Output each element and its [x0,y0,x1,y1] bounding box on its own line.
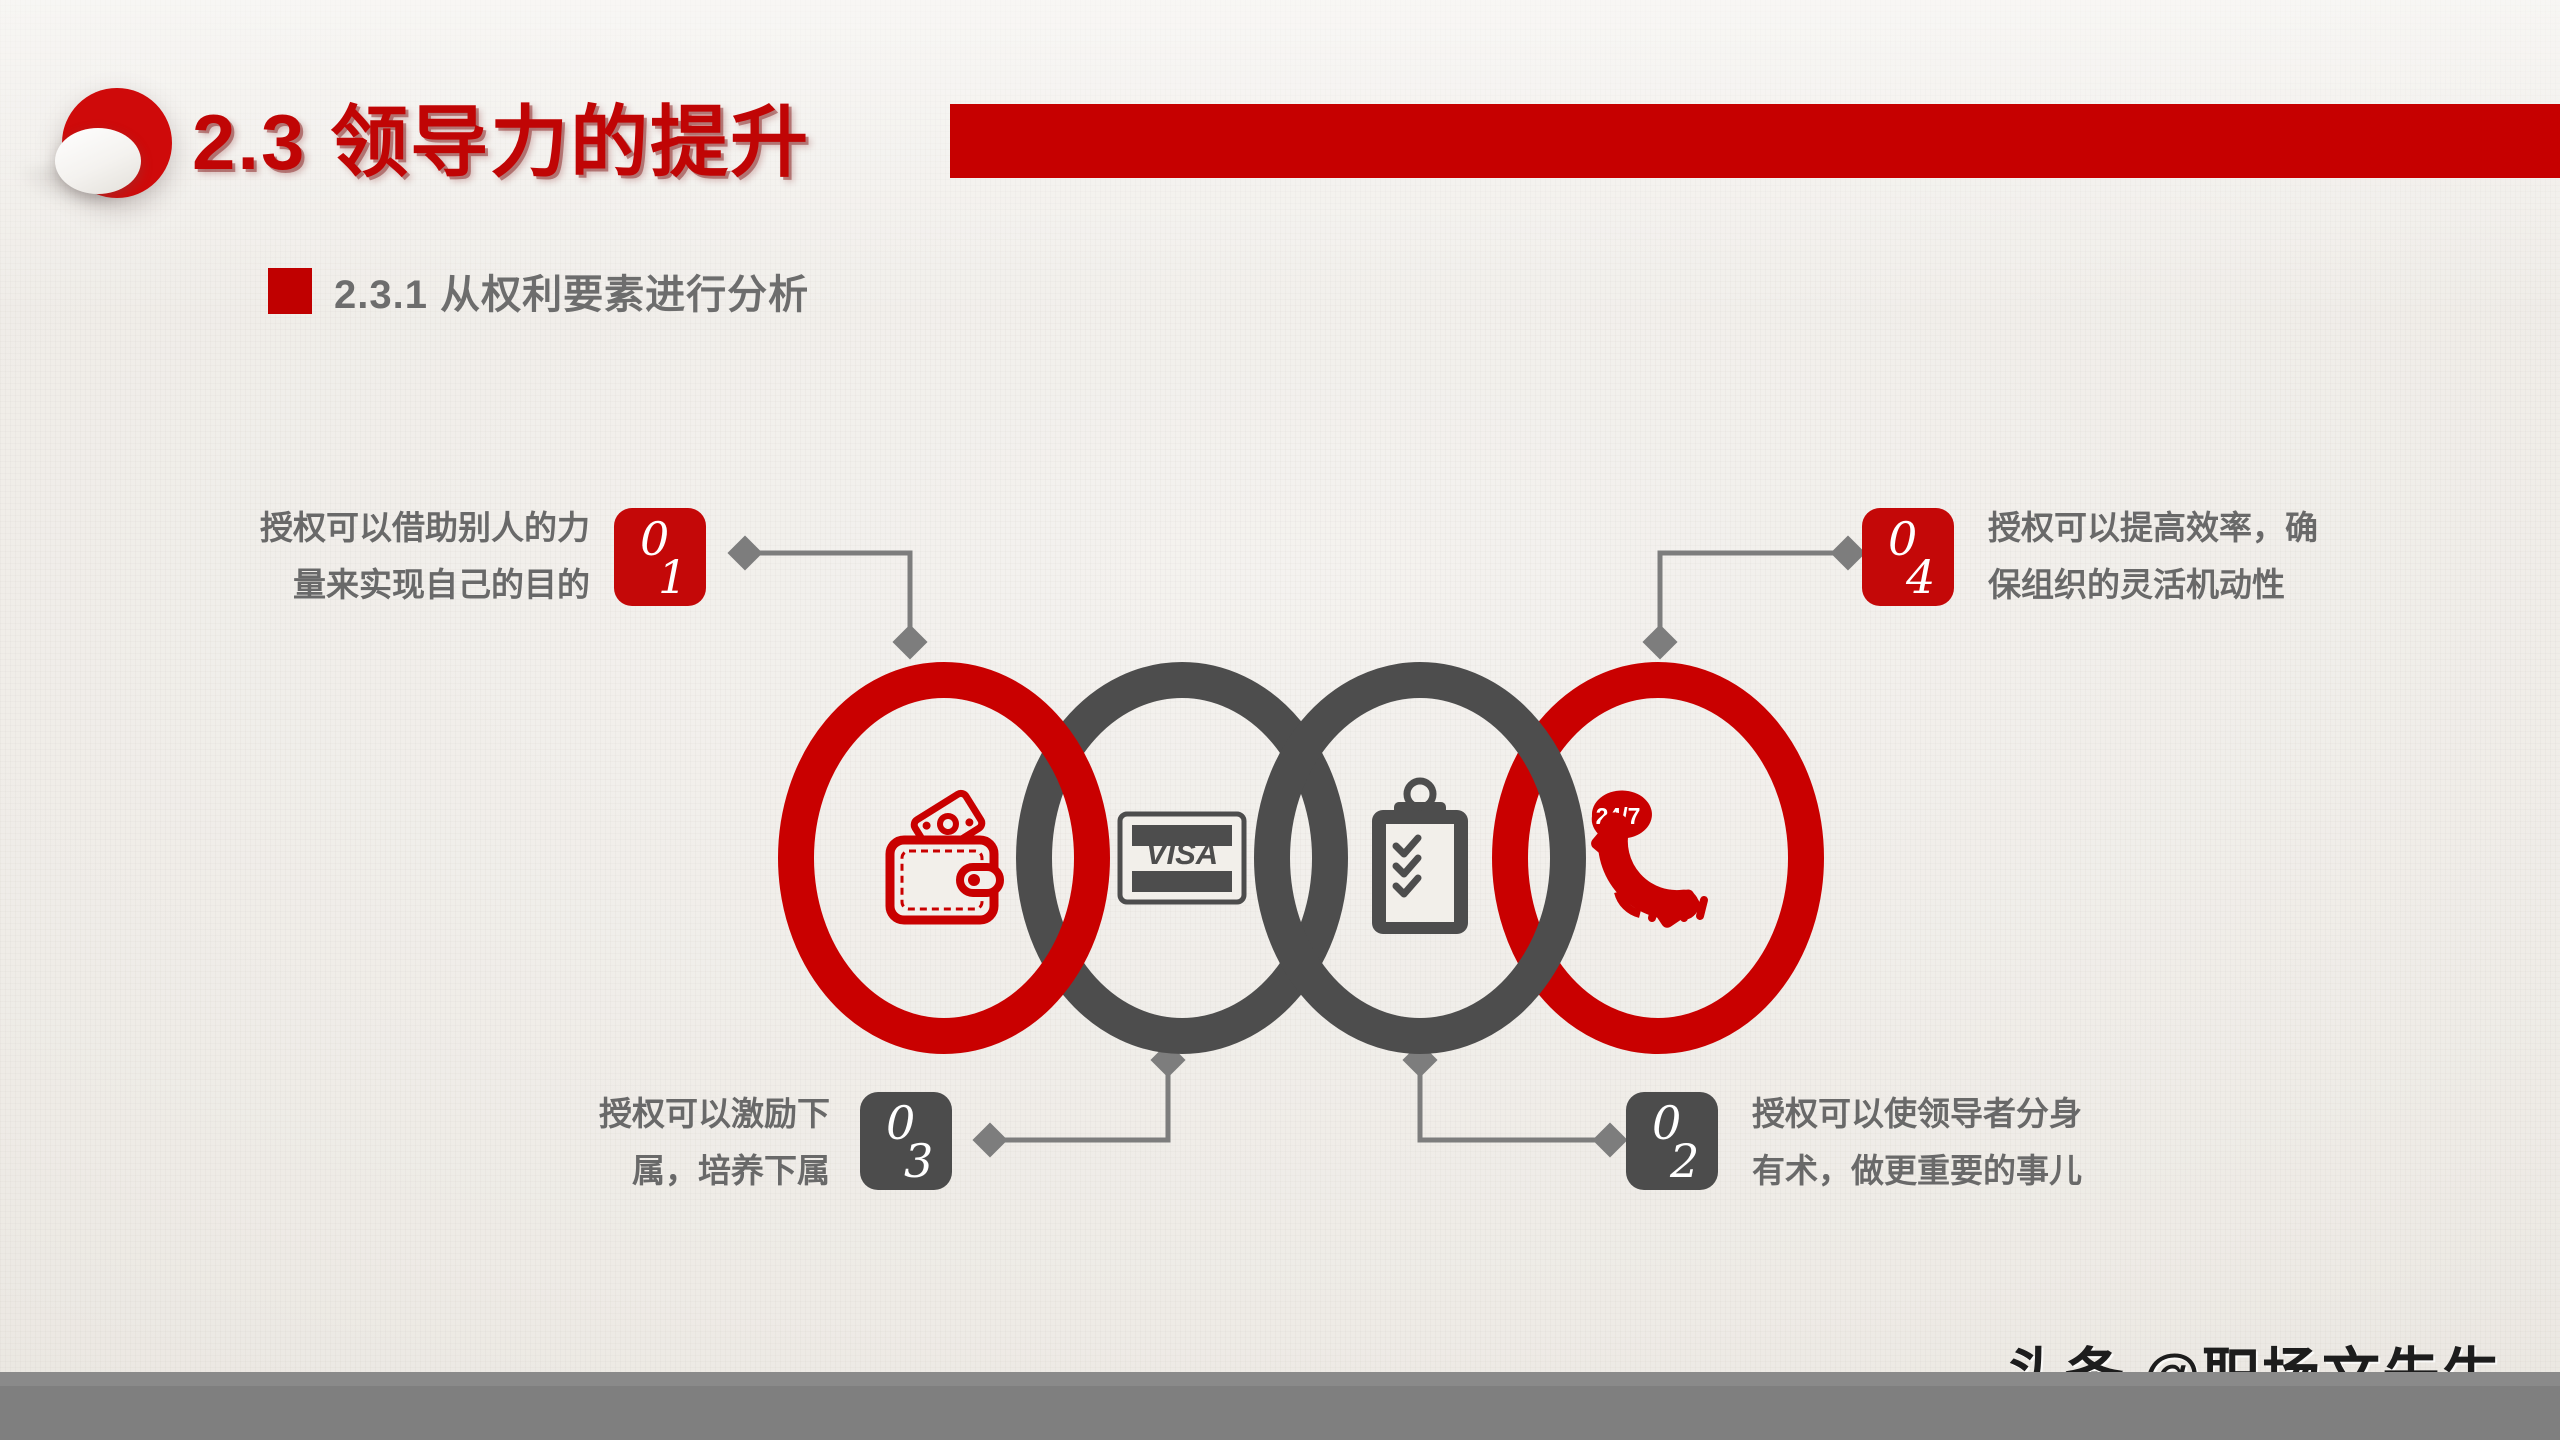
badge-04-digit-bottom: 4 [1906,554,1935,600]
label-04-line-2: 保组织的灵活机动性 [1988,557,2508,614]
connector-02 [1406,1046,1624,1154]
badge-02: 0 2 [1626,1092,1718,1190]
badge-03-digit-bottom: 3 [904,1138,933,1184]
label-02-line-2: 有术，做更重要的事儿 [1752,1143,2312,1200]
phone-247-icon: 24/7 [1584,790,1704,934]
badge-01: 0 1 [614,508,706,606]
label-03-line-1: 授权可以激励下 [410,1086,830,1143]
connector-01 [731,539,924,656]
label-01-line-2: 量来实现自己的目的 [130,557,590,614]
diagram-graphics: VISA 24/7 [0,0,2560,1440]
connector-04 [1646,539,1862,656]
footer-divider [0,1372,2560,1386]
badge-04: 0 4 [1862,508,1954,606]
label-04: 授权可以提高效率，确 保组织的灵活机动性 [1988,500,2508,614]
badge-01-digit-bottom: 1 [658,554,687,600]
wallet-icon [890,791,1000,920]
label-03-line-2: 属，培养下属 [410,1143,830,1200]
visa-card-icon: VISA [1120,814,1244,902]
label-01-line-1: 授权可以借助别人的力 [130,500,590,557]
visa-card-label: VISA [1146,836,1218,871]
footer-bar [0,1386,2560,1440]
label-01: 授权可以借助别人的力 量来实现自己的目的 [130,500,590,614]
clipboard-checklist-icon [1372,781,1468,934]
presentation-slide: 2.3 领导力的提升 2.3.1 从权利要素进行分析 [0,0,2560,1440]
label-02: 授权可以使领导者分身 有术，做更重要的事儿 [1752,1086,2312,1200]
badge-02-digit-bottom: 2 [1670,1138,1699,1184]
badge-03: 0 3 [860,1092,952,1190]
label-02-line-1: 授权可以使领导者分身 [1752,1086,2312,1143]
connector-03 [976,1046,1182,1154]
label-04-line-1: 授权可以提高效率，确 [1988,500,2508,557]
label-03: 授权可以激励下 属，培养下属 [410,1086,830,1200]
